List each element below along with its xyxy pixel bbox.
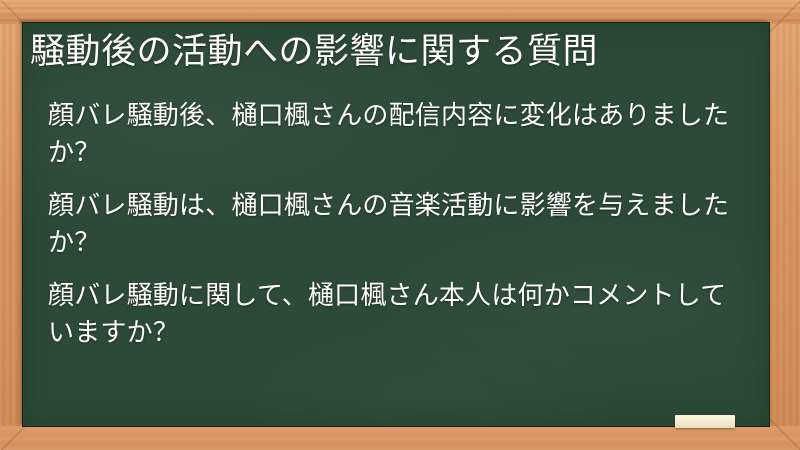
frame-top-rail — [0, 0, 800, 24]
frame-bottom-ledge — [0, 426, 800, 450]
chalkboard-slide: 騒動後の活動への影響に関する質問 顔バレ騒動後、樋口楓さんの配信内容に変化はあり… — [0, 0, 800, 450]
list-item: 顔バレ騒動に関して、樋口楓さん本人は何かコメントしていますか？ — [48, 278, 748, 352]
question-list: 顔バレ騒動後、樋口楓さんの配信内容に変化はありましたか？ 顔バレ騒動は、樋口楓さ… — [48, 98, 748, 351]
chalkboard-surface: 騒動後の活動への影響に関する質問 顔バレ騒動後、樋口楓さんの配信内容に変化はあり… — [22, 22, 770, 427]
chalkboard-eraser-icon — [675, 415, 735, 428]
list-item: 顔バレ騒動後、樋口楓さんの配信内容に変化はありましたか？ — [48, 98, 748, 172]
list-item: 顔バレ騒動は、樋口楓さんの音楽活動に影響を与えましたか？ — [48, 188, 748, 262]
page-title: 騒動後の活動への影響に関する質問 — [30, 30, 760, 75]
